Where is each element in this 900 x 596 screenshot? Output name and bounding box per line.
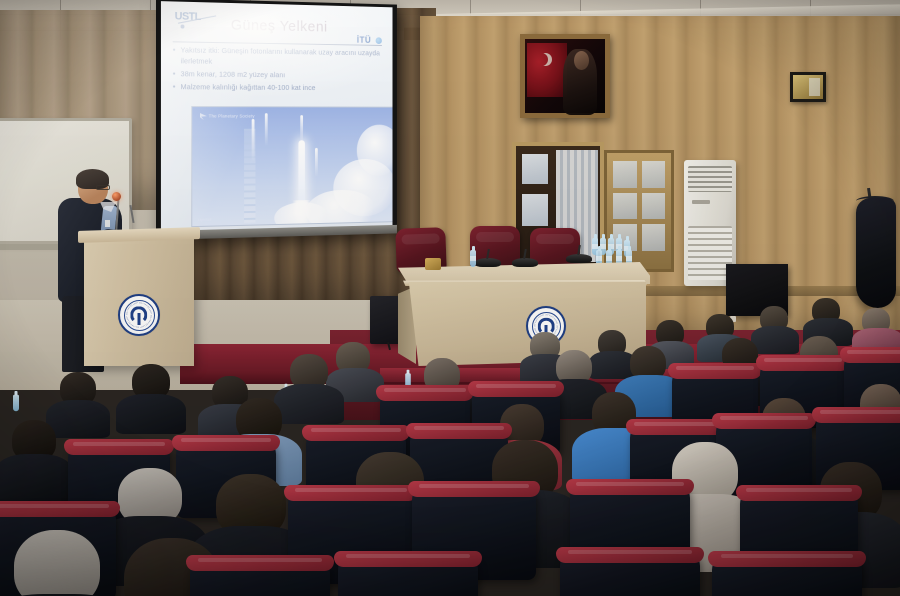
wall-frame [790,72,826,102]
slide-bullet-list: Yakıtsız itki: Güneşin fotonlarını kulla… [173,45,384,96]
exhaust-plume [274,202,329,226]
light-trail [265,113,268,146]
itu-badge-icon [376,37,382,44]
itu-logo-text: İTÜ [357,35,371,45]
rocket [298,140,304,206]
auditorium-seat[interactable] [712,554,862,596]
water-bottle[interactable] [13,395,19,412]
portrait-face [574,51,589,70]
desk-nameplate [425,258,441,270]
door-pane [522,154,548,184]
planetary-society-logo: The Planetary Society [200,113,255,120]
podium-top [78,227,200,243]
person-shoulders [46,400,110,438]
ac-brand-plate [692,200,710,204]
person-shoulders [274,384,344,424]
crescent-icon [535,53,548,66]
light-trail [315,148,318,177]
projection-screen: USTL Güneş Yelkeni İTÜ Yakıtsız itki: Gü… [156,0,397,240]
ac-vent-icon [688,166,732,192]
audience-area [0,292,900,596]
auditorium-seat[interactable] [560,550,700,596]
portrait-frame [520,34,610,118]
door-pane [522,194,548,226]
auditorium-seat[interactable] [338,554,478,596]
water-bottle[interactable] [470,250,476,267]
slide-bullet: Yakıtsız itki: Güneşin fotonlarını kulla… [173,45,384,69]
hall-door-right[interactable] [604,150,674,272]
person-shoulders [116,394,186,434]
person-shoulders [751,326,799,354]
table-microphone[interactable] [566,254,592,263]
light-trail [252,119,255,162]
slide-rocket-photo: The Planetary Society LightSail [192,107,392,226]
auditorium-seat[interactable] [190,558,330,596]
image-credit: LightSail [198,218,211,222]
itu-logo: İTÜ [357,35,382,45]
conference-hall-photo: USTL Güneş Yelkeni İTÜ Yakıtsız itki: Gü… [0,0,900,596]
person-head [14,530,100,596]
glasses-icon [96,185,110,190]
turkish-flag [527,43,567,97]
screen-surface: USTL Güneş Yelkeni İTÜ Yakıtsız itki: Gü… [161,1,393,232]
presenter-badge [105,220,110,227]
microphone-icon [112,192,121,201]
table-microphone[interactable] [512,258,538,267]
slide-title: Güneş Yelkeni [161,15,393,37]
person-shoulders [0,454,74,502]
table-microphone[interactable] [475,258,501,267]
slide-bullet: 38m kenar, 1208 m2 yüzey alanı [173,69,384,82]
planetary-society-text: The Planetary Society [209,114,255,119]
slide-bullet: Malzeme kalınlığı kağıttan 40-100 kat in… [173,82,384,94]
presentation-slide: USTL Güneş Yelkeni İTÜ Yakıtsız itki: Gü… [161,1,393,232]
planetary-society-mark-icon [200,113,207,120]
